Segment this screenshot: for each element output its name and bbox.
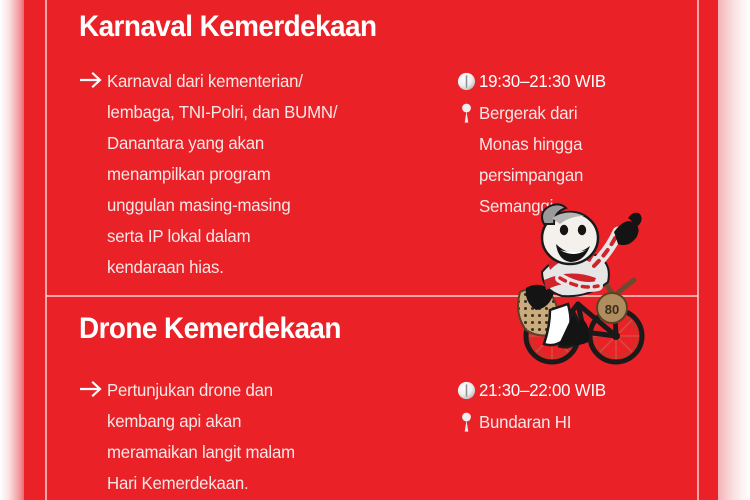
section-karnaval: Karnaval Kemerdekaan Karnaval dari kemen… — [46, 0, 697, 295]
description-block-karnaval: Karnaval dari kementerian/ lembaga, TNI-… — [79, 66, 429, 283]
meta-row-location-drone: Bundaran HI — [453, 407, 697, 438]
meta-row-location-karnaval: Bergerak dari Monas hingga persimpangan … — [453, 98, 697, 222]
description-text-drone: Pertunjukan drone dan kembang api akan m… — [107, 375, 295, 499]
right-edge-gradient — [718, 0, 750, 500]
meta-time-karnaval: 19:30–21:30 WIB — [479, 66, 606, 97]
location-pin-icon — [453, 98, 479, 129]
location-pin-icon — [453, 407, 479, 438]
meta-row-time-karnaval: 19:30–21:30 WIB — [453, 66, 697, 97]
poster: Karnaval Kemerdekaan Karnaval dari kemen… — [0, 0, 750, 500]
section-title-karnaval: Karnaval Kemerdekaan — [79, 10, 376, 44]
frame-rule-right — [697, 0, 699, 500]
section-body-karnaval: Karnaval dari kementerian/ lembaga, TNI-… — [79, 66, 697, 283]
section-title-drone: Drone Kemerdekaan — [79, 312, 341, 346]
left-edge-gradient — [0, 0, 24, 500]
description-text-karnaval: Karnaval dari kementerian/ lembaga, TNI-… — [107, 66, 337, 283]
section-body-drone: Pertunjukan drone dan kembang api akan m… — [79, 375, 697, 499]
clock-icon — [453, 375, 479, 406]
description-block-drone: Pertunjukan drone dan kembang api akan m… — [79, 375, 429, 499]
arrow-right-icon — [79, 379, 107, 499]
meta-time-drone: 21:30–22:00 WIB — [479, 375, 606, 406]
meta-block-drone: 21:30–22:00 WIB Bundaran HI — [453, 375, 697, 439]
arrow-right-icon — [79, 70, 107, 283]
meta-location-karnaval: Bergerak dari Monas hingga persimpangan … — [479, 98, 583, 222]
meta-location-drone: Bundaran HI — [479, 407, 571, 438]
section-drone: Drone Kemerdekaan Pertunjukan drone dan … — [46, 297, 697, 500]
clock-icon — [453, 66, 479, 97]
meta-row-time-drone: 21:30–22:00 WIB — [453, 375, 697, 406]
meta-block-karnaval: 19:30–21:30 WIB Bergerak dari Monas hing… — [453, 66, 697, 223]
